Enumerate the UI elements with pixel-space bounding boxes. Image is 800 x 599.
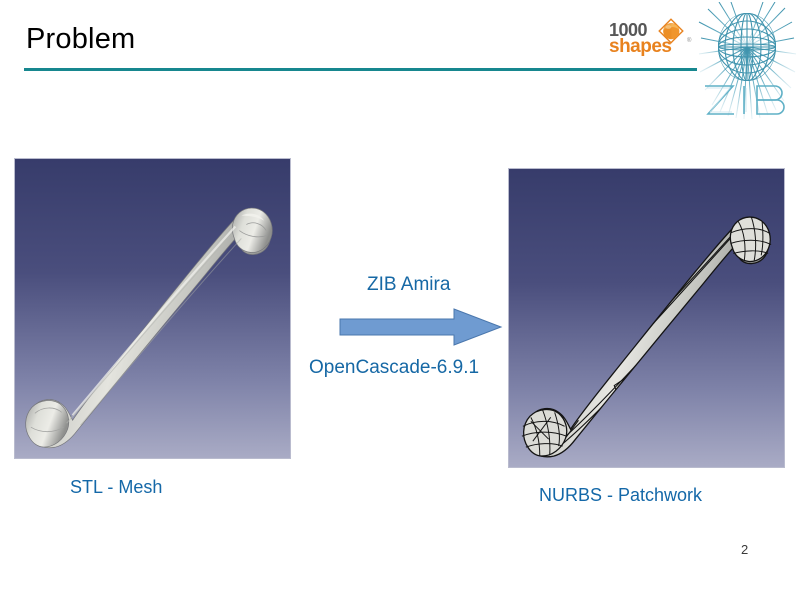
1000shapes-logo: 1000 shapes ® — [608, 18, 696, 60]
bone-nurbs-patch-wireframe — [522, 217, 771, 457]
bone-surface-mesh — [26, 208, 273, 448]
flow-label-above: ZIB Amira — [367, 274, 450, 296]
wireframe-globe-icon — [697, 109, 797, 126]
title-divider — [24, 68, 697, 71]
right-arrow-icon — [338, 306, 504, 348]
zib-logo — [697, 2, 797, 122]
orange-sphere-icon — [658, 18, 684, 44]
page-title: Problem — [26, 20, 135, 58]
registered-trademark-icon: ® — [687, 38, 691, 44]
nurbs-patchwork-render — [508, 168, 785, 468]
stl-mesh-caption: STL - Mesh — [70, 477, 162, 498]
flow-label-below: OpenCascade-6.9.1 — [309, 357, 479, 379]
page-number: 2 — [741, 542, 748, 557]
nurbs-patchwork-caption: NURBS - Patchwork — [539, 485, 702, 506]
stl-mesh-render — [14, 158, 291, 459]
